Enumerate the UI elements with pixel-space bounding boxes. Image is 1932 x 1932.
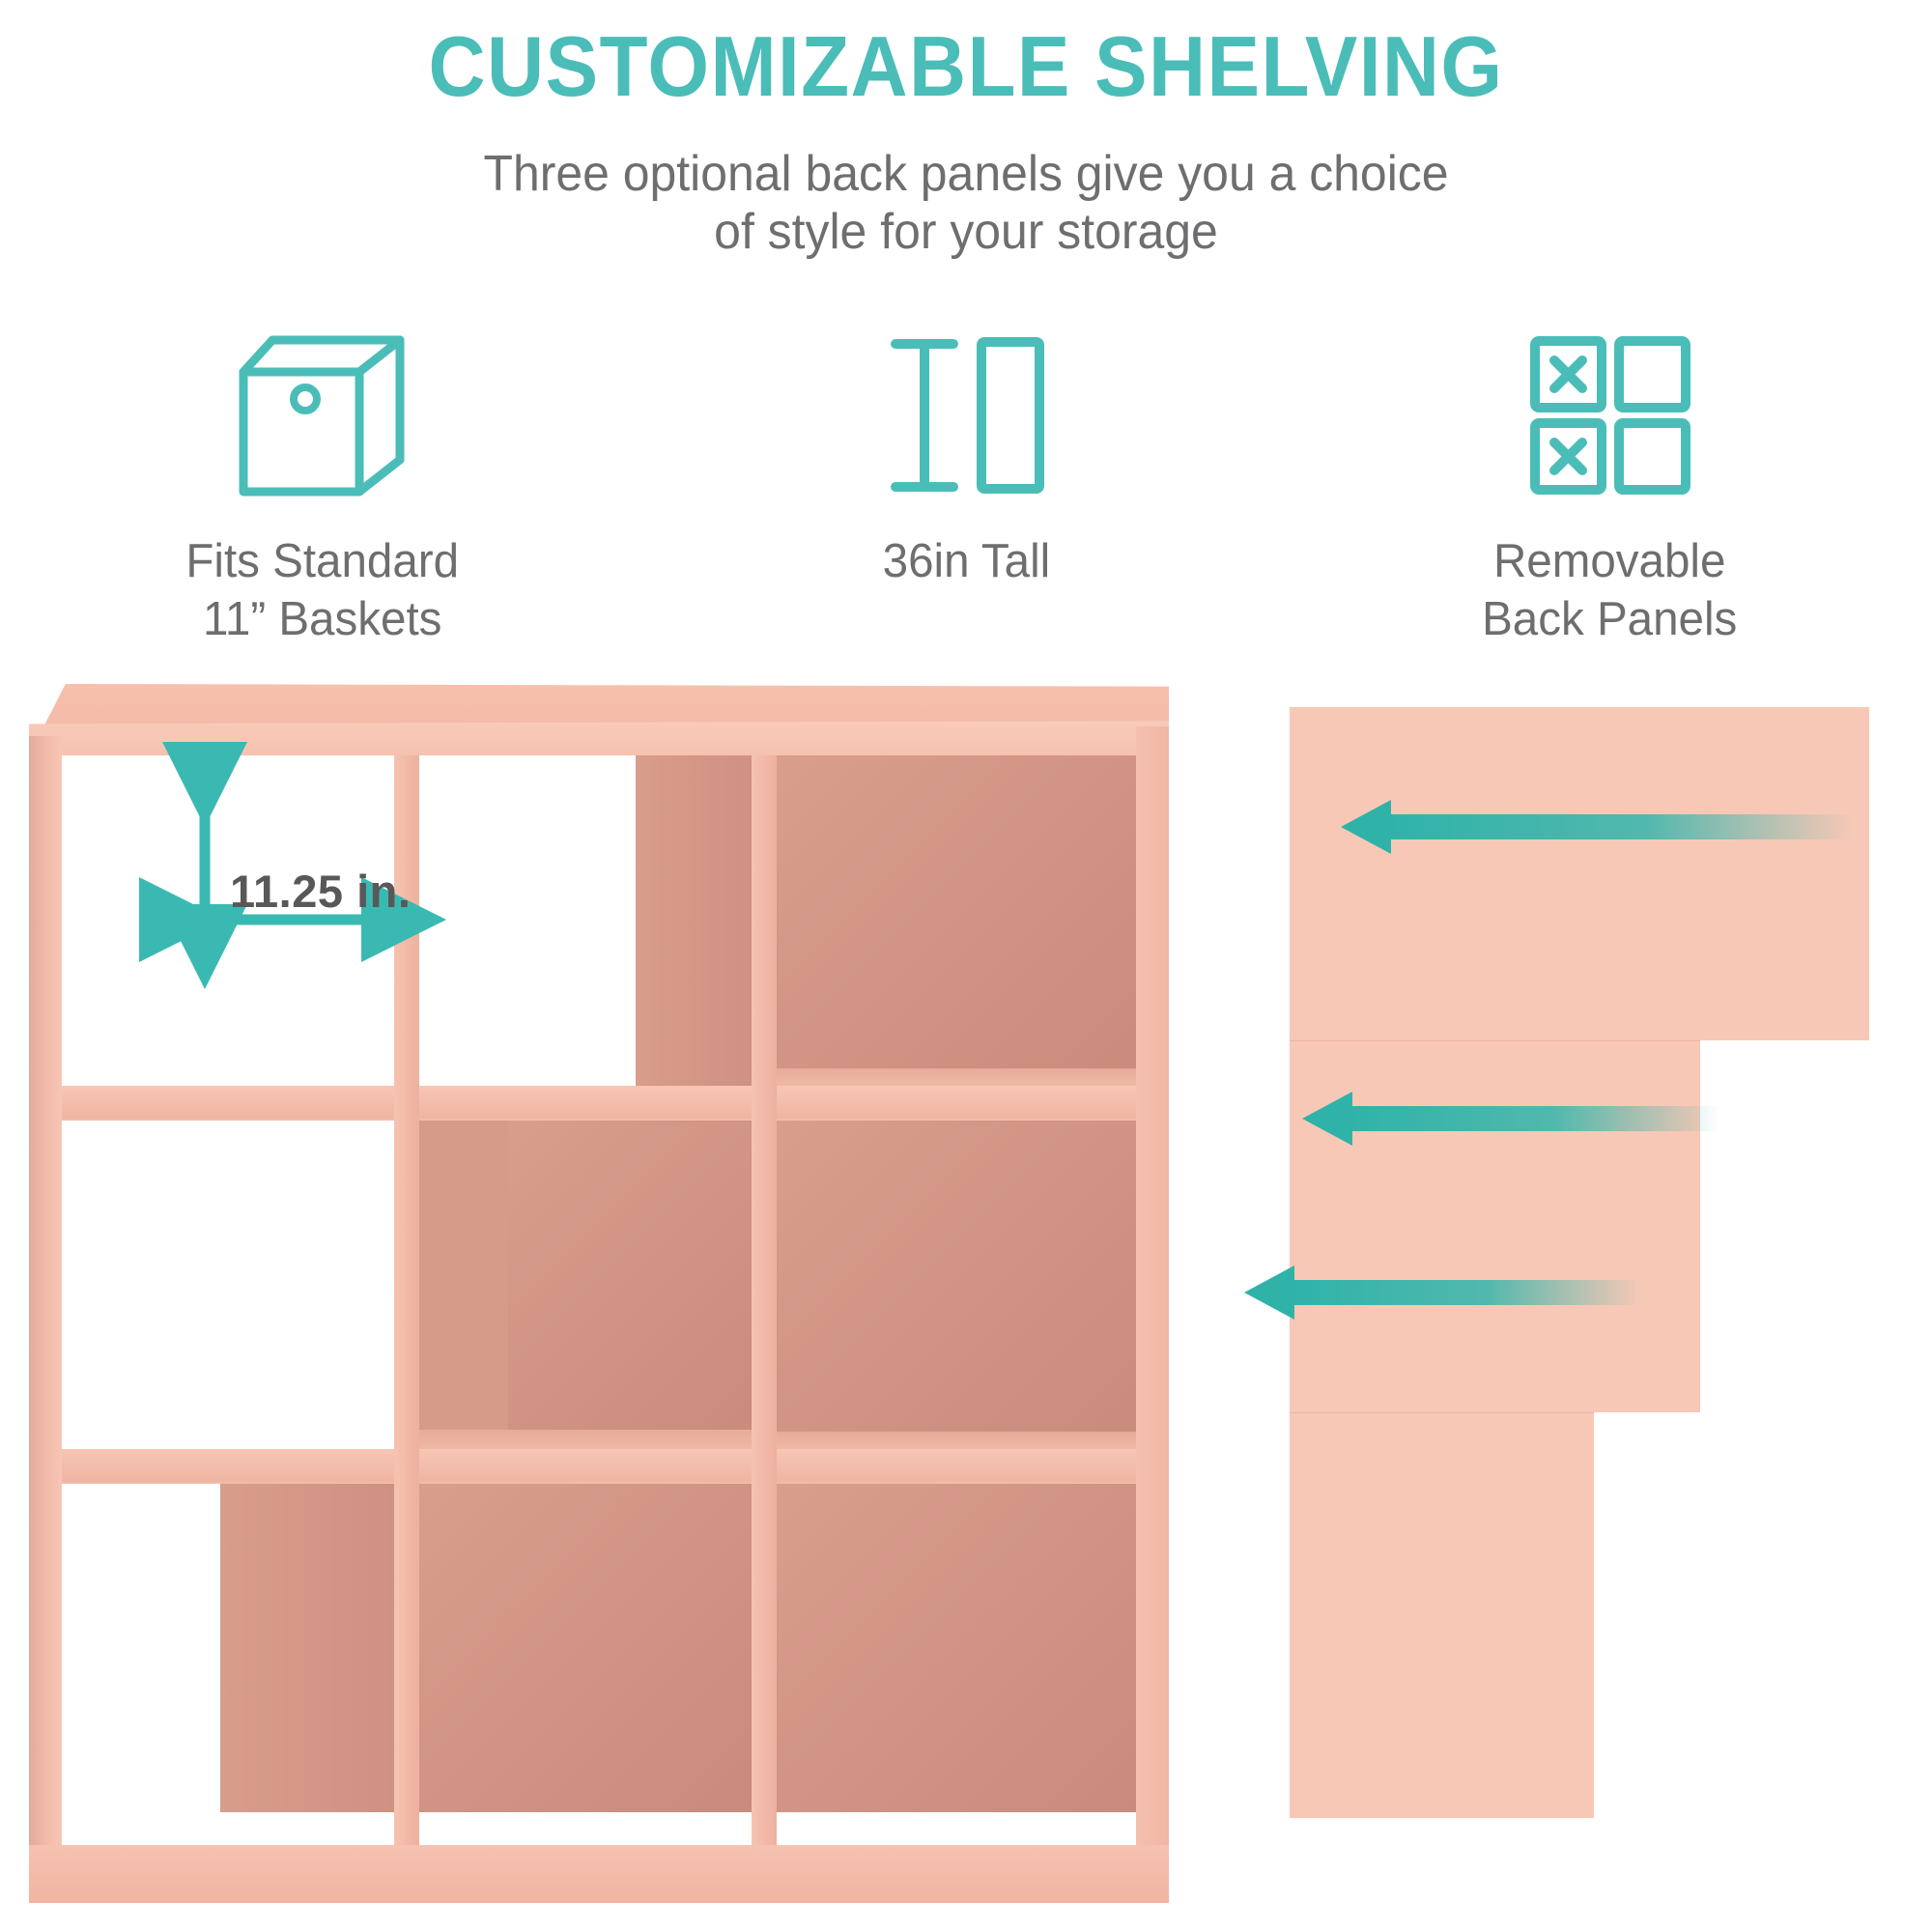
- page-title: CUSTOMIZABLE SHELVING: [68, 17, 1864, 116]
- feature-label-1: Fits Standard 11” Baskets: [185, 533, 459, 649]
- feature-fits-standard-baskets: Fits Standard 11” Baskets: [0, 319, 644, 686]
- removable-panels-grid-icon: [1528, 319, 1692, 512]
- storage-basket-cube-icon: [230, 319, 413, 512]
- middle-panel-arrow: [1302, 1092, 1719, 1146]
- height-measure-icon: [884, 319, 1048, 512]
- feature-1-line-1: Fits Standard: [185, 535, 459, 587]
- bottom-panel-arrow: [1244, 1265, 1642, 1320]
- product-infographic: CUSTOMIZABLE SHELVING Three optional bac…: [0, 0, 1932, 1932]
- feature-list: Fits Standard 11” Baskets 36in Tall: [0, 319, 1932, 686]
- panel-direction-arrows: [0, 676, 1932, 1932]
- page-subtitle: Three optional back panels give you a ch…: [39, 145, 1893, 262]
- product-illustration: 11.25 in.: [0, 676, 1932, 1932]
- feature-3-line-1: Removable: [1493, 535, 1725, 587]
- subtitle-line-2: of style for your storage: [39, 203, 1893, 261]
- feature-label-2: 36in Tall: [882, 533, 1050, 591]
- feature-2-line-1: 36in Tall: [882, 535, 1050, 587]
- top-panel-arrow: [1341, 800, 1855, 854]
- feature-1-line-2: 11” Baskets: [185, 591, 459, 649]
- feature-label-3: Removable Back Panels: [1483, 533, 1738, 649]
- feature-36in-tall: 36in Tall: [644, 319, 1289, 686]
- subtitle-line-1: Three optional back panels give you a ch…: [483, 146, 1448, 202]
- feature-removable-back-panels: Removable Back Panels: [1288, 319, 1932, 686]
- feature-3-line-2: Back Panels: [1483, 591, 1738, 649]
